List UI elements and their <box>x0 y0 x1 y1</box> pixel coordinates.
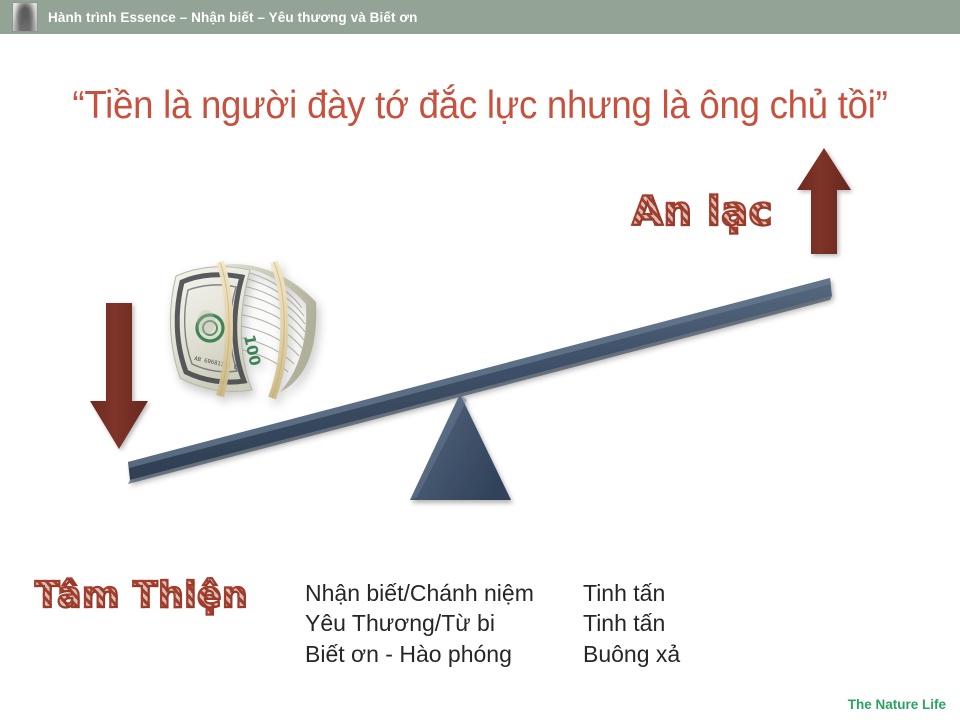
practice-list: Nhận biết/Chánh niệm Yêu Thương/Từ bi Bi… <box>305 578 753 669</box>
list-item: Yêu Thương/Từ bi <box>305 608 545 638</box>
list-item: Tinh tấn <box>583 578 753 608</box>
page-title: “Tiền là người đày tớ đắc lực nhưng là ô… <box>29 84 931 128</box>
seesaw-fulcrum <box>410 394 511 500</box>
footer-brand: The Nature Life <box>848 697 946 712</box>
wordart-an-lac: An lạc <box>632 189 773 235</box>
money-front-bill: 100 AB 69681382 E <box>170 267 264 392</box>
money-stack-image: 100 AB 69681382 E <box>158 250 338 405</box>
wordart-tam-thien: Tâm Thiện <box>35 575 248 616</box>
list-item: Tinh tấn <box>583 608 753 638</box>
slide-canvas: Hành trình Essence – Nhận biết – Yêu thư… <box>0 0 960 720</box>
header-title: Hành trình Essence – Nhận biết – Yêu thư… <box>48 10 417 25</box>
arrow-down-icon <box>88 303 150 451</box>
header-bar: Hành trình Essence – Nhận biết – Yêu thư… <box>0 0 960 34</box>
arrow-up-icon <box>795 146 853 256</box>
practice-column-left: Nhận biết/Chánh niệm Yêu Thương/Từ bi Bi… <box>305 578 545 669</box>
list-item: Biết ơn - Hào phóng <box>305 639 545 669</box>
list-item: Nhận biết/Chánh niệm <box>305 578 545 608</box>
list-item: Buông xả <box>583 639 753 669</box>
practice-column-right: Tinh tấn Tinh tấn Buông xả <box>583 578 753 669</box>
avatar <box>12 2 38 32</box>
